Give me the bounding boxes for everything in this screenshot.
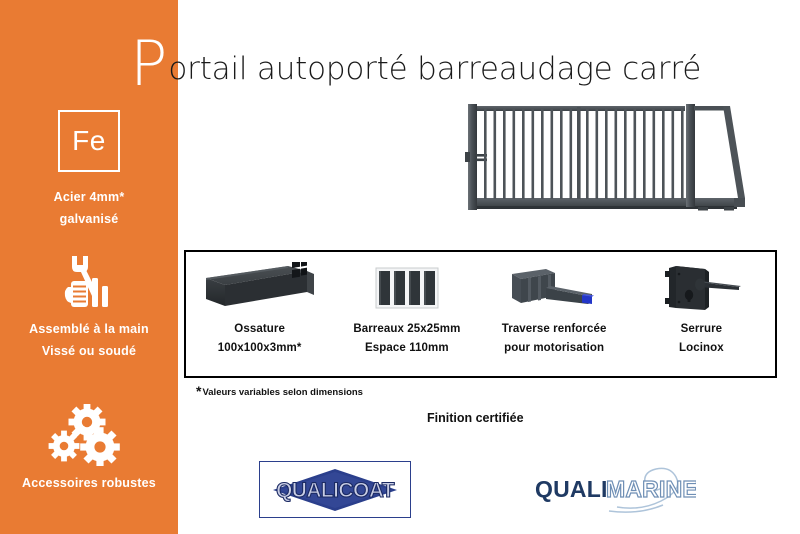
sidebar-label-steel-1: Acier 4mm* — [0, 186, 178, 208]
gears-icon — [0, 404, 178, 466]
square-bars-icon — [362, 260, 452, 316]
sidebar-item-accessories: Accessoires robustes — [0, 404, 178, 494]
finition-label: Finition certifiée — [427, 411, 524, 425]
feature-barreaux-caption-1: Barreaux 25x25mm — [353, 320, 460, 339]
feature-serrure-caption-1: Serrure — [681, 320, 723, 339]
sidebar-label-steel-2: galvanisé — [0, 208, 178, 230]
page-title: P ortail autoporté barreaudage carré — [130, 27, 701, 83]
lock-icon — [653, 260, 749, 316]
footnote: *Valeurs variables selon dimensions — [196, 383, 363, 399]
reinforced-crossbar-icon — [500, 260, 608, 316]
sidebar-label-accessories-1: Accessoires robustes — [0, 472, 178, 494]
feature-barreaux-caption-2: Espace 110mm — [365, 339, 449, 358]
feature-ossature-caption-1: Ossature — [234, 320, 285, 339]
features-box: Ossature 100x100x3mm* — [184, 250, 777, 378]
title-text: ortail autoporté barreaudage carré — [168, 54, 701, 85]
sidebar-label-assembly-2: Vissé ou soudé — [0, 340, 178, 362]
qualimarine-wordmark-bold: QUALI — [535, 476, 608, 502]
sidebar-label-assembly-1: Assemblé à la main — [0, 318, 178, 340]
fe-symbol: Fe — [72, 127, 106, 155]
feature-ossature-caption-2: 100x100x3mm* — [218, 339, 302, 358]
steel-profile-icon — [204, 260, 316, 316]
qualicoat-wordmark: QUALICOAT — [276, 479, 395, 502]
footnote-text: Valeurs variables selon dimensions — [202, 387, 363, 398]
fe-element-box-icon: Fe — [58, 110, 120, 172]
qualimarine-wordmark-outline: MARINE — [606, 476, 696, 502]
qualicoat-logo: QUALICOAT — [259, 461, 411, 518]
cantilever-sliding-gate-illustration — [462, 92, 782, 229]
feature-traverse-caption-1: Traverse renforcée — [502, 320, 607, 339]
sidebar-item-assembly: Assemblé à la main Vissé ou soudé — [0, 252, 178, 362]
hand-wrench-icon — [0, 252, 178, 314]
qualimarine-logo: QUALI MARINE — [521, 463, 696, 515]
feature-ossature: Ossature 100x100x3mm* — [186, 252, 333, 376]
feature-serrure: Serrure Locinox — [628, 252, 775, 376]
feature-serrure-caption-2: Locinox — [679, 339, 724, 358]
feature-traverse: Traverse renforcée pour motorisation — [481, 252, 628, 376]
feature-barreaux: Barreaux 25x25mm Espace 110mm — [333, 252, 480, 376]
sidebar-item-steel: Fe Acier 4mm* galvanisé — [0, 110, 178, 230]
footnote-star: * — [196, 383, 201, 399]
product-spec-sheet: Fe Acier 4mm* galvanisé — [0, 0, 800, 534]
feature-traverse-caption-2: pour motorisation — [504, 339, 604, 358]
title-dropcap: P — [130, 33, 167, 95]
